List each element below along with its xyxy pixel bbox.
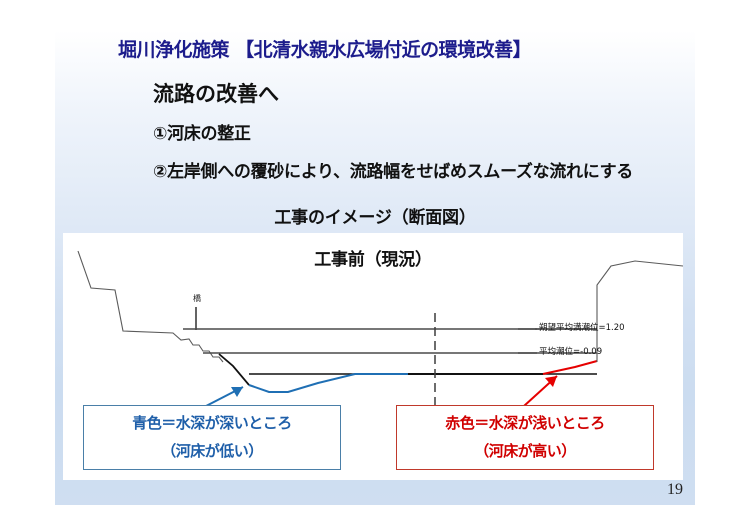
bullet-item-2: ②左岸側への覆砂により、流路幅をせばめスムーズな流れにする [153,157,633,182]
left-revetment-slope [219,354,249,385]
callout-shallow-red: 赤色＝水深が浅いところ （河床が高い） [396,405,654,470]
page-title: 堀川浄化施策 【北清水親水広場付近の環境改善】 [118,35,531,62]
callout-deep-line2: （河床が低い） [84,440,340,461]
callout-shallow-line2: （河床が高い） [397,440,653,461]
deep-bed-blue-line [249,374,408,392]
left-bank-profile [78,251,223,362]
page-number: 19 [660,481,690,499]
page-margin-left [0,0,55,530]
slide-page: 堀川浄化施策 【北清水親水広場付近の環境改善】 流路の改善へ ①河床の整正 ②左… [0,0,750,530]
callout-deep-line1: 青色＝水深が深いところ [84,412,340,433]
bullet-item-1: ①河床の整正 [153,119,251,144]
callout-deep-blue: 青色＝水深が深いところ （河床が低い） [83,405,341,470]
page-margin-right [695,0,750,530]
section-heading: 工事のイメージ（断面図） [55,203,695,228]
callout-shallow-line1: 赤色＝水深が浅いところ [397,412,653,433]
cross-section-figure: 工事前（現況） [63,233,683,480]
mean-tide-label: 平均潮位=-0.09 [539,345,602,357]
page-margin-bottom [0,505,750,530]
slide-body: 堀川浄化施策 【北清水親水広場付近の環境改善】 流路の改善へ ①河床の整正 ②左… [55,0,695,505]
pile-label: 橋 [193,295,201,303]
shallow-bed-red-line [543,361,597,374]
right-bank-profile [597,261,683,362]
page-subtitle: 流路の改善へ [153,78,279,108]
high-tide-label: 朔望平均満潮位=1.20 [539,321,625,333]
